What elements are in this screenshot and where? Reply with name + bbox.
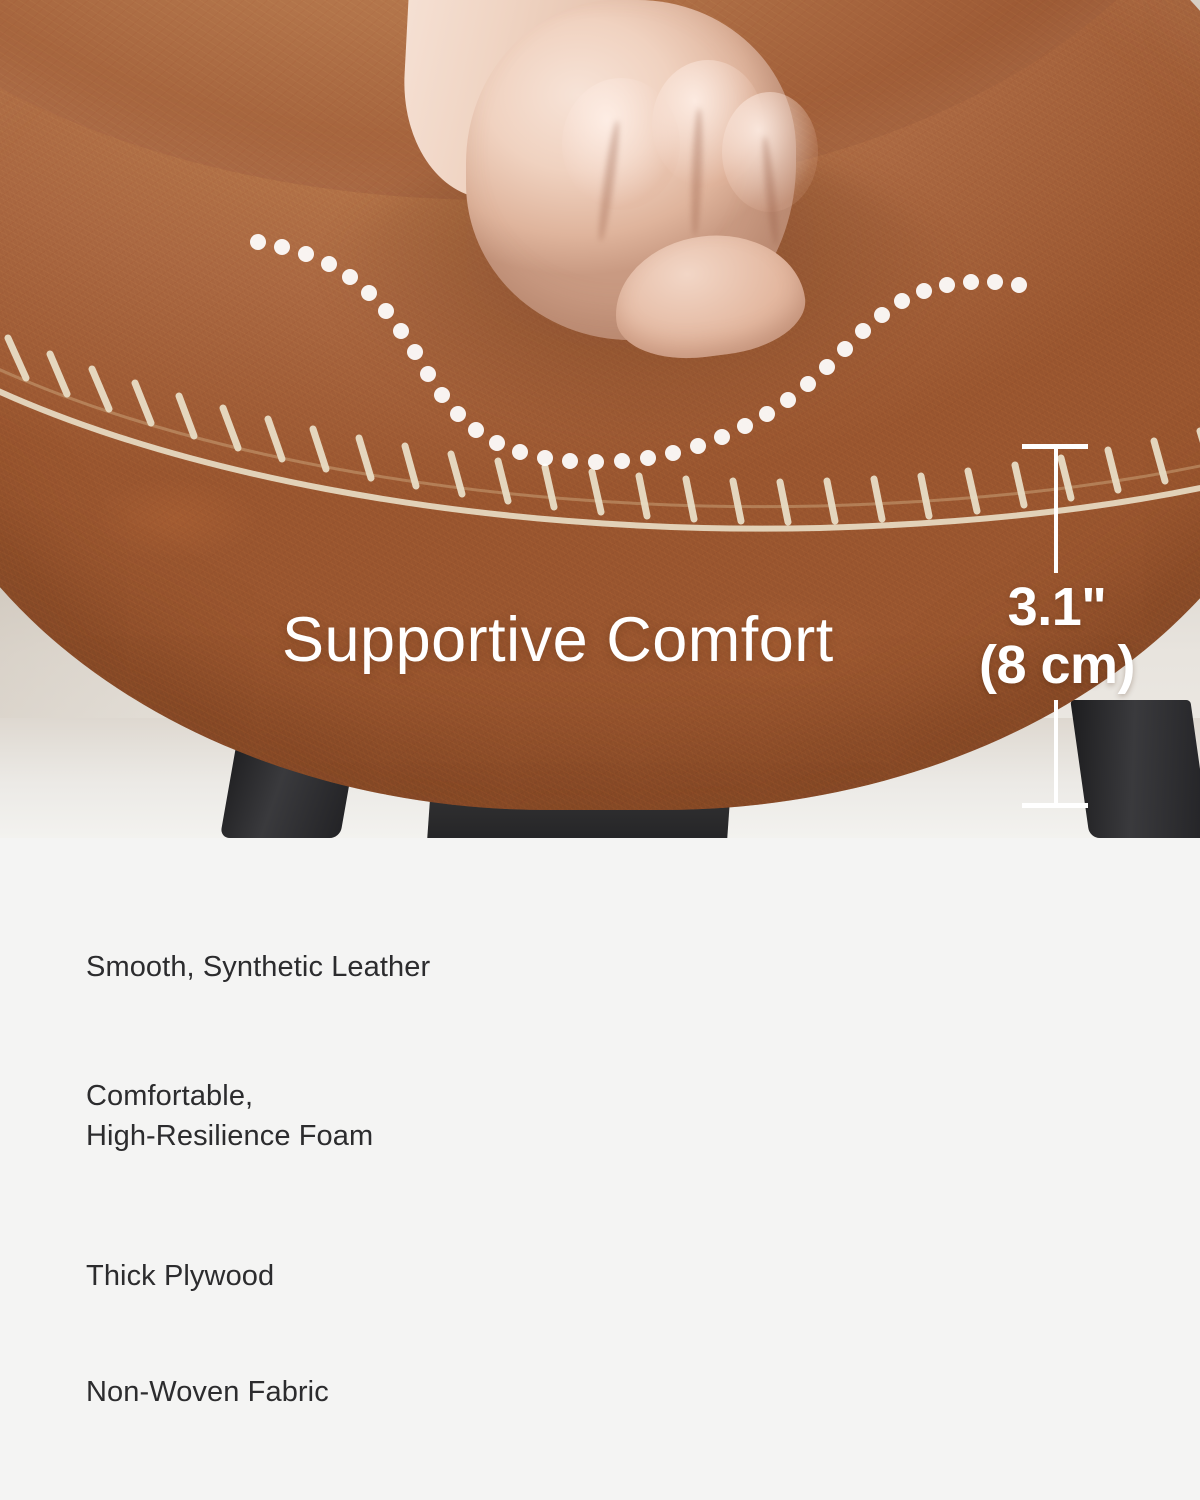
- layer-label-leather: Smooth, Synthetic Leather: [86, 947, 430, 987]
- dimension-label: 3.1" (8 cm): [944, 578, 1170, 694]
- hero-headline: Supportive Comfort: [282, 604, 834, 676]
- layer-label-fabric: Non-Woven Fabric: [86, 1372, 329, 1412]
- dimension-value-metric: (8 cm): [944, 636, 1170, 694]
- dimension-value-inches: 3.1": [944, 578, 1170, 636]
- dimension-stem-upper: [1054, 445, 1058, 573]
- hero-panel: 3.1" (8 cm) Supportive Comfort: [0, 0, 1200, 838]
- dimension-stem-lower: [1054, 700, 1058, 808]
- layer-label-plywood: Thick Plywood: [86, 1256, 274, 1296]
- compression-curve-icon: [0, 0, 1200, 838]
- dimension-cap-bottom: [1022, 803, 1088, 808]
- layer-label-foam: Comfortable, High-Resilience Foam: [86, 1076, 373, 1156]
